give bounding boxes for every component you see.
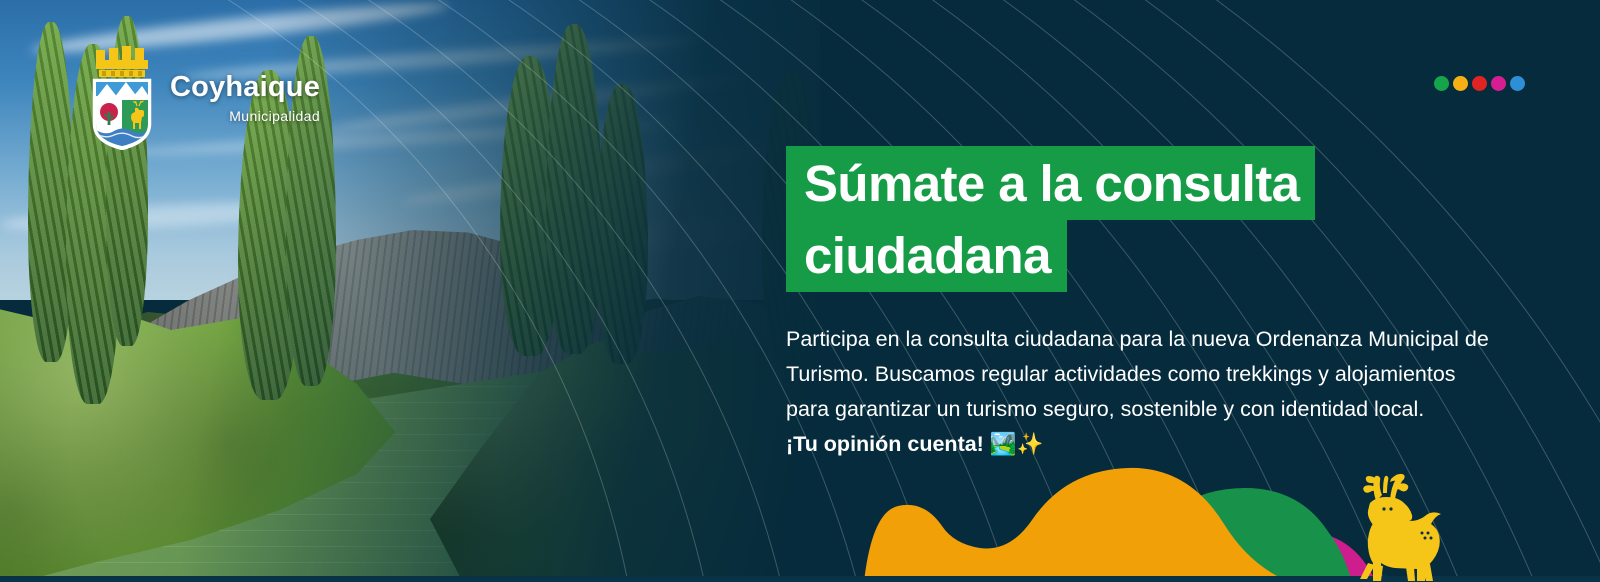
logo-subtitle: Municipalidad (229, 109, 320, 123)
logo-title: Coyhaique (170, 73, 320, 102)
municipality-logo[interactable]: Coyhaique Municipalidad (88, 46, 320, 150)
dot-blue (1510, 76, 1525, 91)
hero-paragraph: Participa en la consulta ciudadana para … (786, 322, 1498, 426)
promo-banner: Coyhaique Municipalidad Súmate a la cons… (0, 0, 1600, 582)
dot-green (1434, 76, 1449, 91)
dot-magenta (1491, 76, 1506, 91)
color-dots (1434, 76, 1525, 91)
cta-emoji: 🏞️✨ (990, 432, 1044, 457)
dot-amber (1453, 76, 1468, 91)
hero-cta-line: ¡Tu opinión cuenta! 🏞️✨ (786, 427, 1498, 463)
hero-content: Súmate a la consulta ciudadana Participa… (786, 146, 1546, 462)
headline-line-2: ciudadana (786, 218, 1067, 292)
huemul-deer-icon (1346, 467, 1456, 582)
cta-text: ¡Tu opinión cuenta! (786, 432, 984, 456)
hero-body: Participa en la consulta ciudadana para … (786, 322, 1498, 462)
headline-line-1: Súmate a la consulta (786, 146, 1315, 220)
page-title: Súmate a la consulta ciudadana (786, 146, 1546, 292)
coyhaique-coat-of-arms-icon (88, 46, 156, 150)
dot-red (1472, 76, 1487, 91)
